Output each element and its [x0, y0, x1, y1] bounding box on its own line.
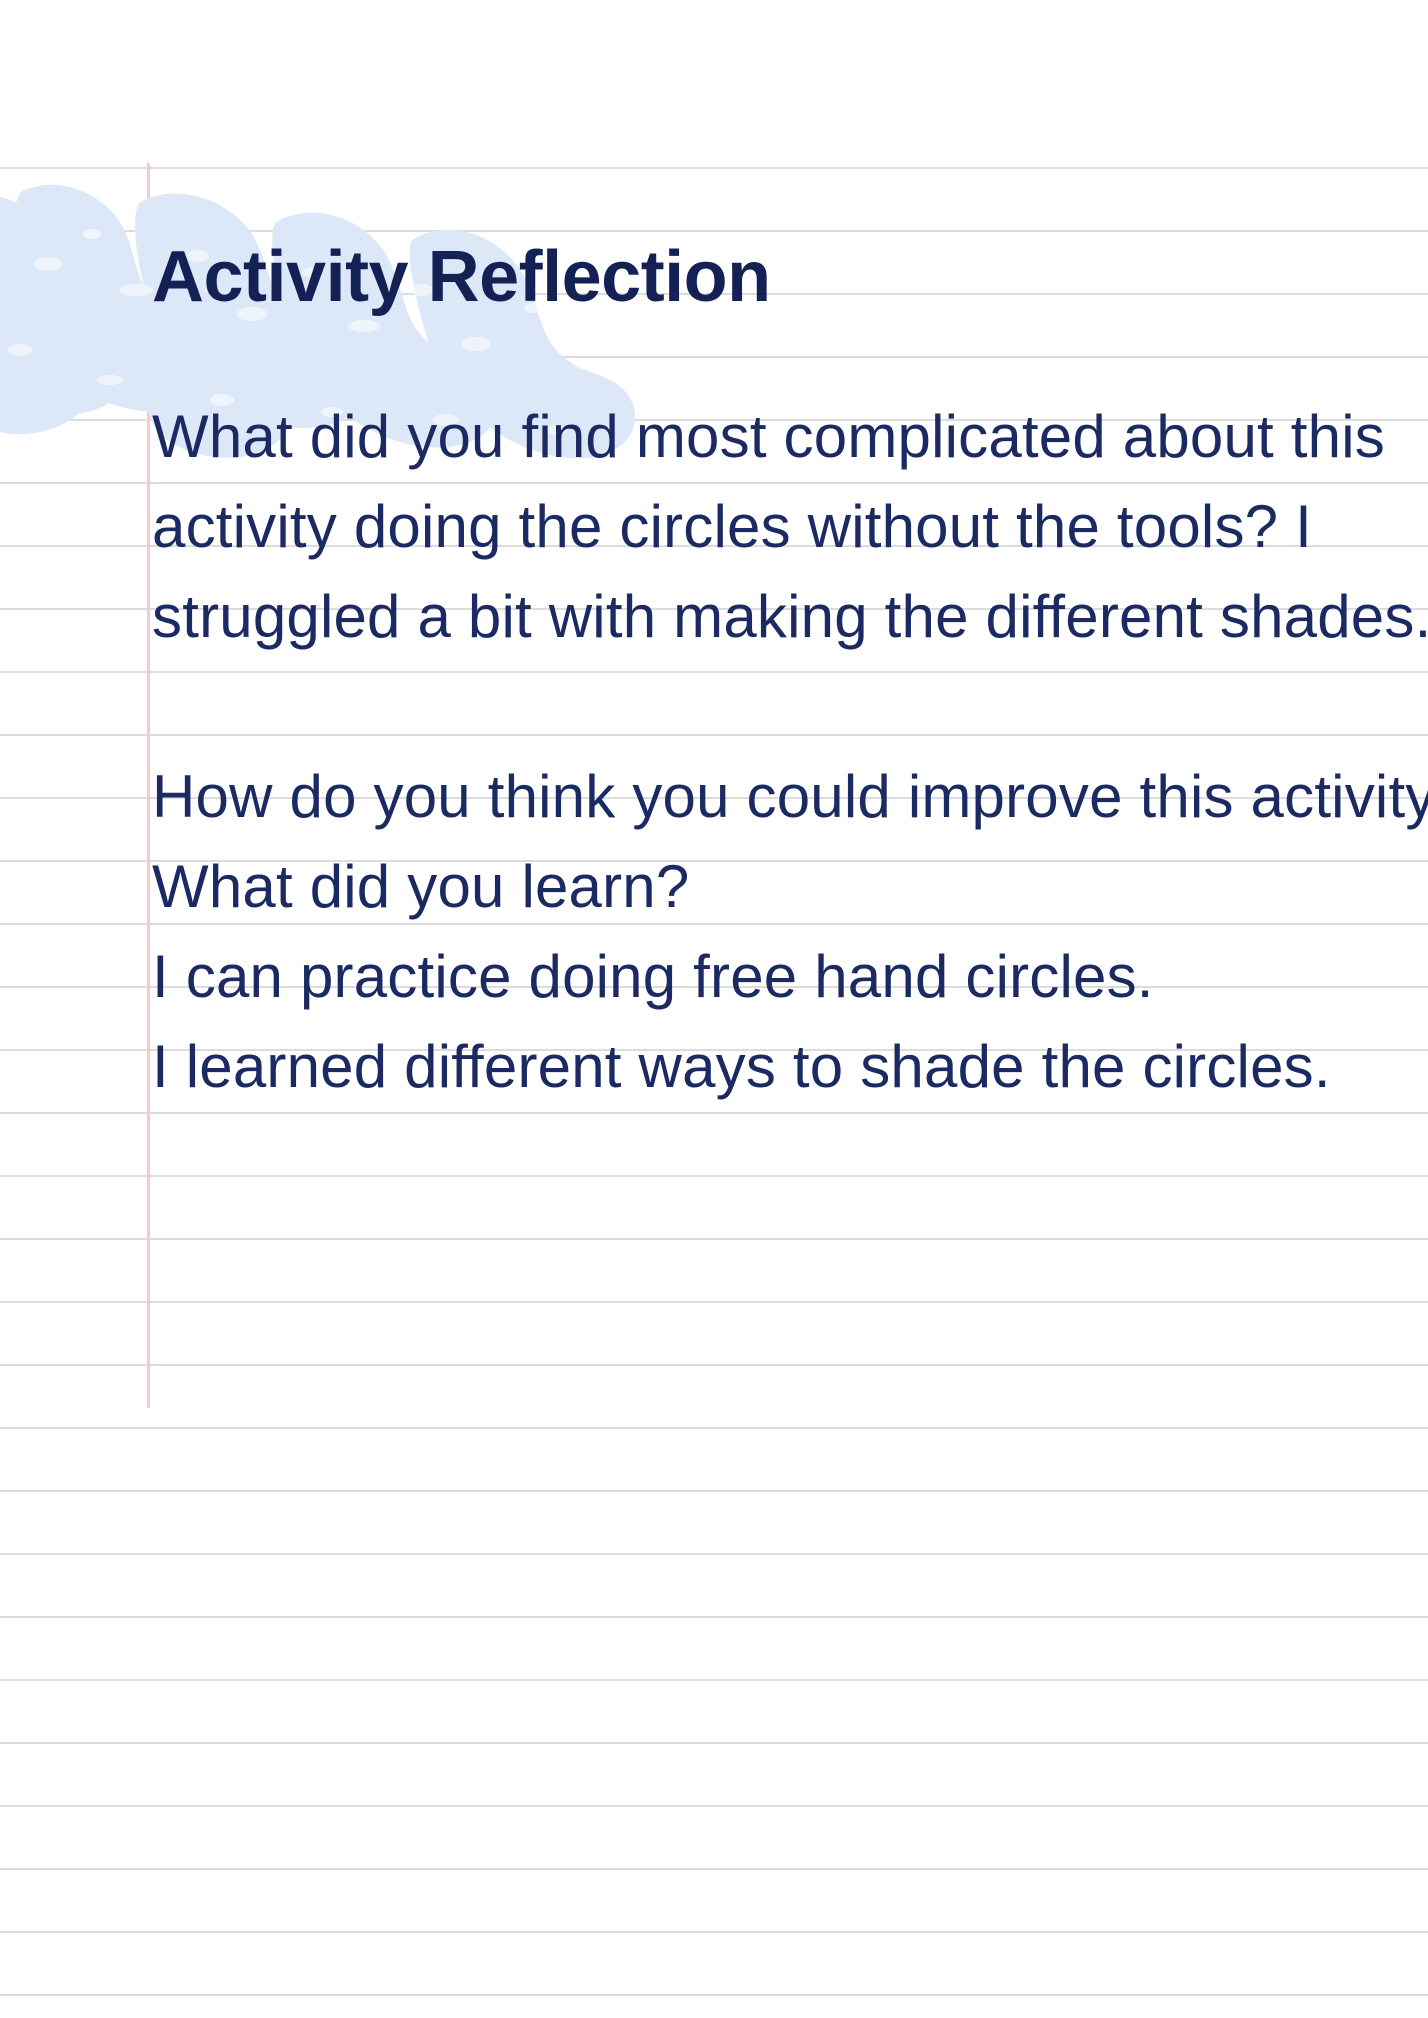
rule-line — [0, 1553, 1428, 1555]
rule-line — [0, 1112, 1428, 1114]
rule-line — [0, 1301, 1428, 1303]
text-line: What did you find most complicated about… — [152, 392, 1428, 482]
text-line: What did you learn? — [152, 842, 1428, 932]
text-line: activity doing the circles without the t… — [152, 482, 1428, 572]
rule-line — [0, 1931, 1428, 1933]
rule-line — [0, 1742, 1428, 1744]
text-line: How do you think you could improve this … — [152, 752, 1428, 842]
rule-line — [0, 1175, 1428, 1177]
text-line: struggled a bit with making the differen… — [152, 572, 1428, 662]
rule-line — [0, 1238, 1428, 1240]
rule-line — [0, 1364, 1428, 1366]
rule-line — [0, 230, 1428, 232]
rule-line — [0, 1868, 1428, 1870]
reflection-text-block: What did you find most complicated about… — [152, 392, 1428, 1112]
margin-rule-line — [147, 163, 150, 1408]
rule-line — [0, 1805, 1428, 1807]
rule-line — [0, 1490, 1428, 1492]
page-title: Activity Reflection — [152, 238, 771, 317]
rule-line — [0, 356, 1428, 358]
rule-line — [0, 1616, 1428, 1618]
rule-line — [0, 1679, 1428, 1681]
text-line: I learned different ways to shade the ci… — [152, 1022, 1428, 1112]
rule-line — [0, 1427, 1428, 1429]
rule-line — [0, 1994, 1428, 1996]
rule-line — [0, 167, 1428, 169]
text-line-blank — [152, 662, 1428, 752]
worksheet-page: Activity Reflection What did you find mo… — [0, 0, 1428, 2018]
text-line: I can practice doing free hand circles. — [152, 932, 1428, 1022]
